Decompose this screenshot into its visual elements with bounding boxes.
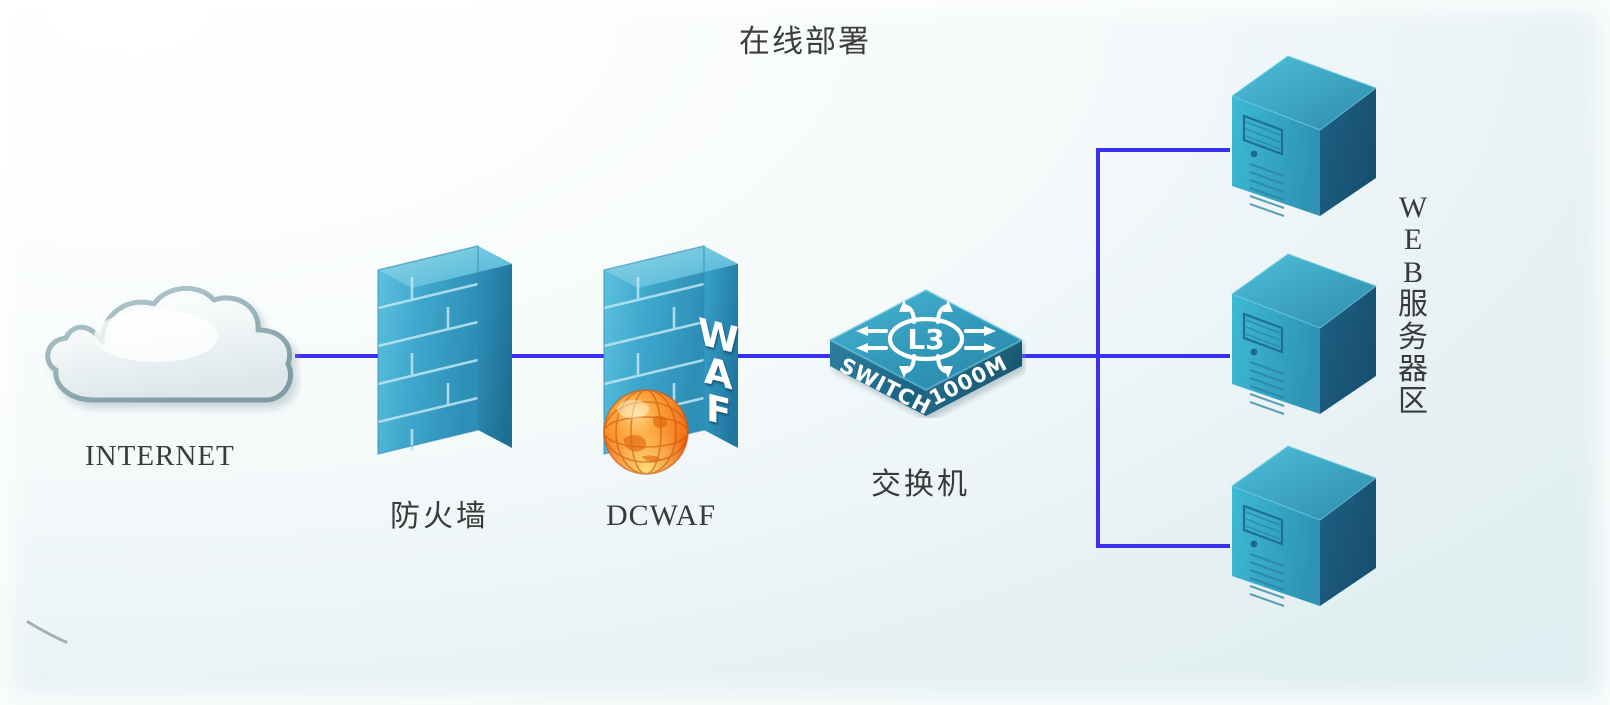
waf-face-text: W A F	[698, 318, 739, 429]
link-switch-trunk	[1018, 354, 1230, 358]
web-server-3	[1228, 434, 1380, 634]
globe-icon	[601, 387, 691, 477]
firewall-label: 防火墙	[390, 491, 489, 535]
switch-top-text: L3	[907, 323, 944, 356]
link-server-bus	[1096, 148, 1100, 548]
link-bus-server-3	[1096, 544, 1230, 548]
zone-char-3: 服	[1398, 289, 1428, 321]
web-server-2	[1228, 242, 1380, 442]
internet-label: INTERNET	[85, 440, 235, 473]
zone-char-6: 区	[1398, 386, 1428, 418]
zone-char-1: E	[1404, 224, 1422, 256]
zone-char-2: B	[1403, 257, 1423, 289]
network-topology-diagram: 在线部署 INTERNET	[0, 0, 1610, 705]
link-bus-server-1	[1096, 148, 1230, 152]
zone-char-0: W	[1399, 192, 1427, 224]
brick-wall-icon	[372, 240, 518, 468]
waf-label: DCWAF	[606, 499, 716, 533]
cloud-icon	[36, 280, 302, 440]
switch-icon: L3 SWITCH 1000M	[826, 278, 1026, 418]
link-waf-switch	[729, 354, 835, 358]
web-server-zone-label: W E B 服 务 器 区	[1398, 192, 1428, 419]
web-server-1	[1228, 44, 1380, 244]
waf-letter-f: F	[706, 389, 731, 432]
stroke-artifact	[26, 618, 76, 646]
zone-char-5: 器	[1398, 354, 1428, 386]
switch-label: 交换机	[871, 459, 970, 503]
page-title: 在线部署	[0, 16, 1610, 61]
zone-char-4: 务	[1398, 322, 1428, 354]
